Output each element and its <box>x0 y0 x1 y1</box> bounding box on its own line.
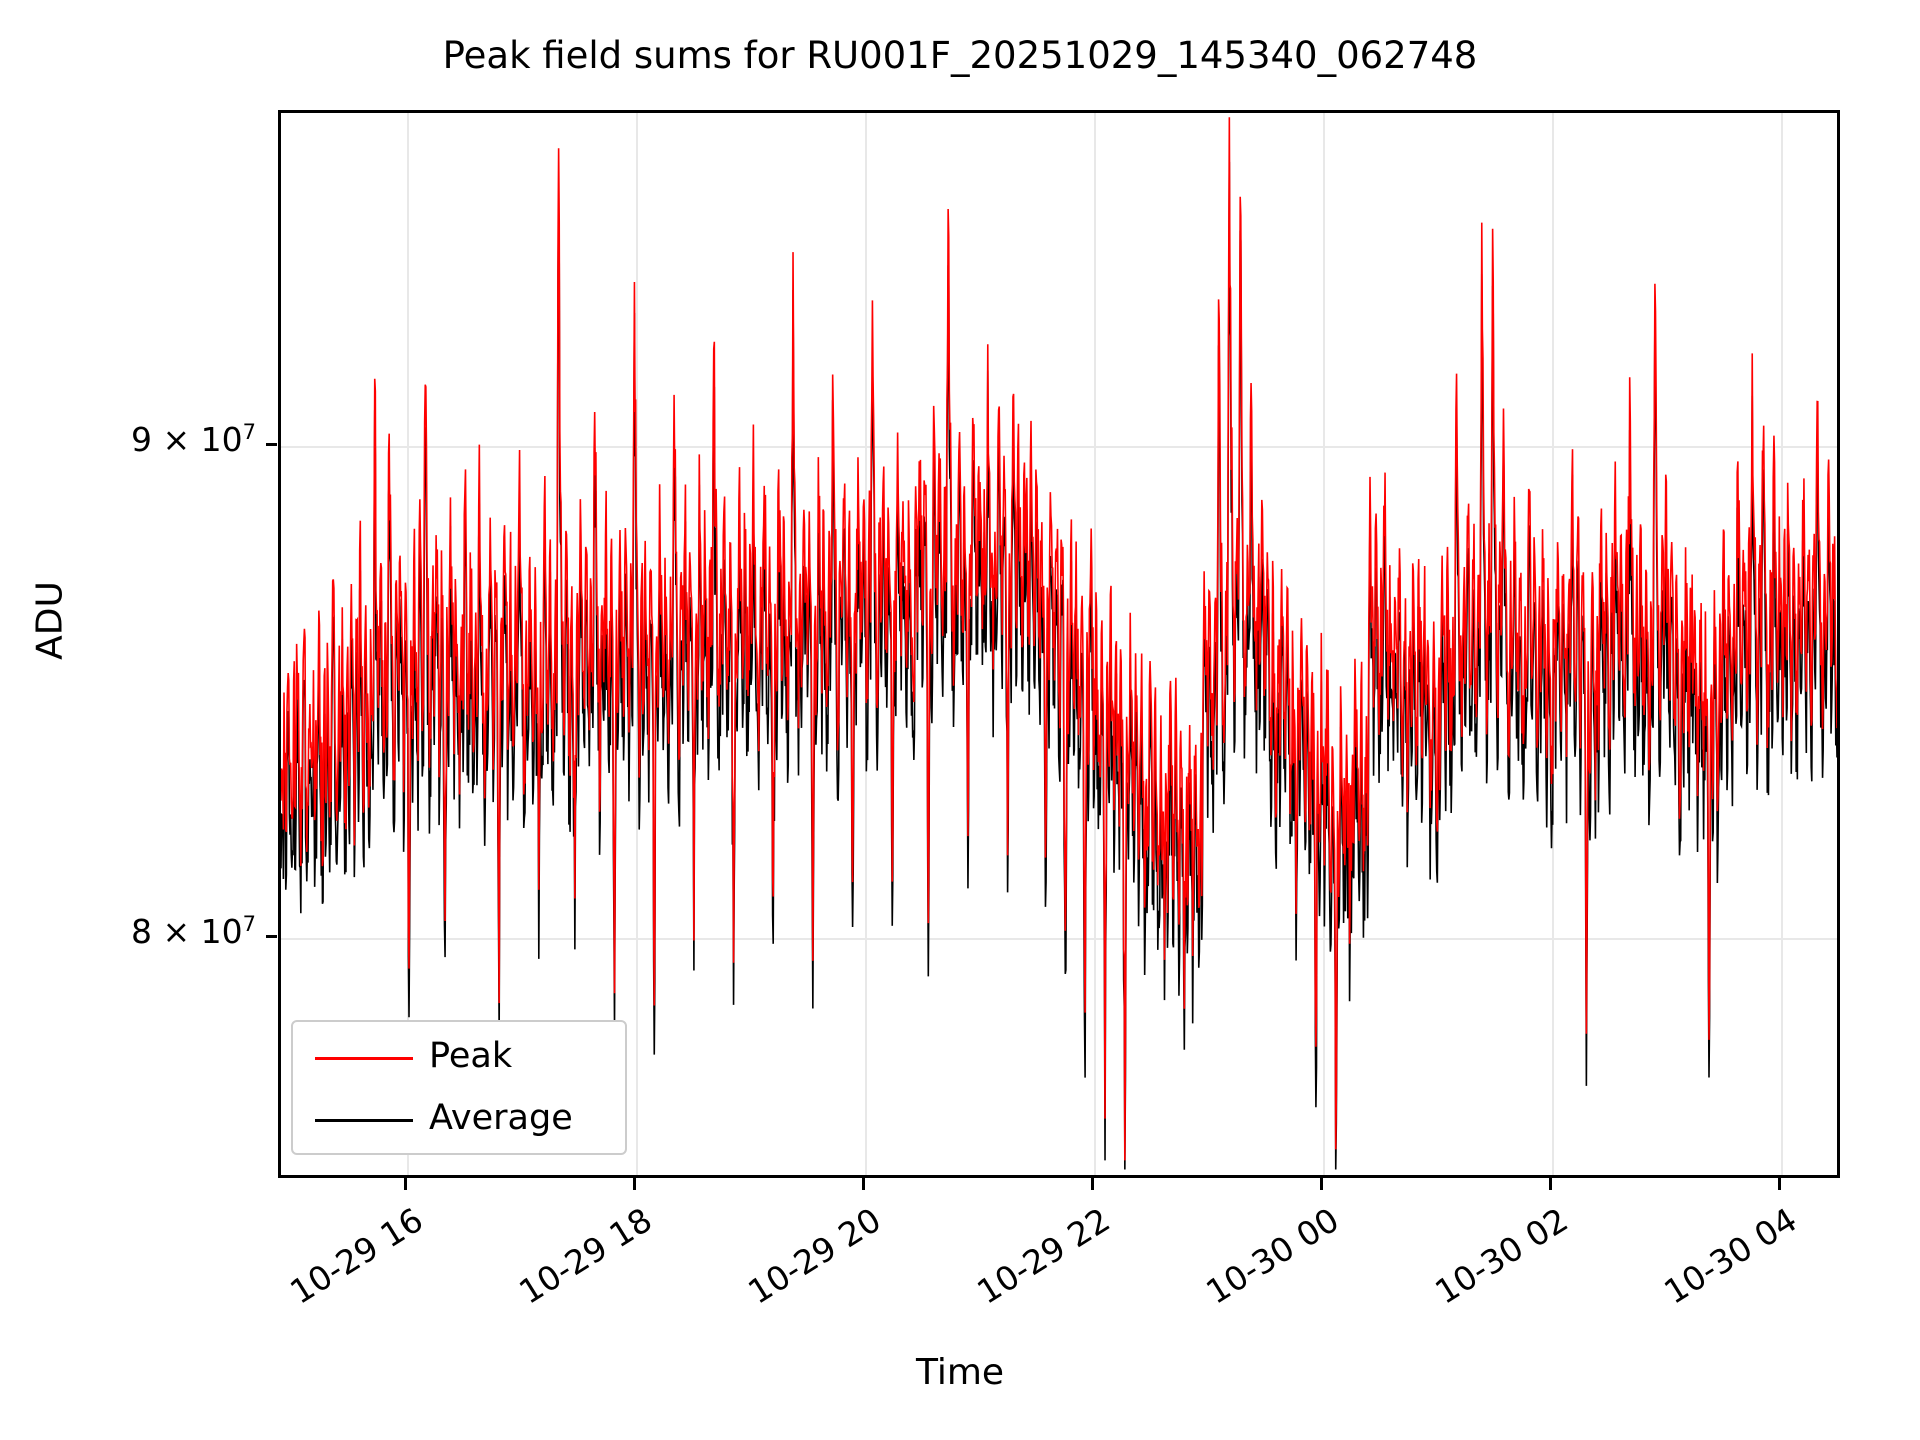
series-lines <box>281 113 1837 1175</box>
x-tick-label: 10-29 22 <box>960 1200 1116 1318</box>
x-tick-mark <box>633 1178 636 1190</box>
x-tick-mark <box>1320 1178 1323 1190</box>
page-title: Peak field sums for RU001F_20251029_1453… <box>0 34 1920 77</box>
legend-label-average: Average <box>429 1098 573 1138</box>
legend-item-peak[interactable]: Peak <box>293 1030 625 1086</box>
y-tick-mark <box>266 935 277 938</box>
y-tick-label: 9 × 107 <box>26 420 256 459</box>
x-tick-label: 10-30 00 <box>1189 1200 1345 1318</box>
x-tick-mark <box>1549 1178 1552 1190</box>
x-tick-label: 10-30 04 <box>1647 1200 1803 1318</box>
x-tick-label: 10-29 18 <box>502 1200 658 1318</box>
legend-swatch-average <box>315 1119 413 1122</box>
x-tick-label: 10-29 20 <box>731 1200 887 1318</box>
legend-swatch-peak <box>315 1057 413 1060</box>
x-tick-mark <box>1778 1178 1781 1190</box>
x-tick-label: 10-30 02 <box>1418 1200 1574 1318</box>
y-tick-mark <box>266 443 277 446</box>
plot-area[interactable] <box>278 110 1840 1178</box>
x-tick-label: 10-29 16 <box>273 1200 429 1318</box>
series-line-peak <box>281 117 1837 1160</box>
legend-label-peak: Peak <box>429 1036 512 1076</box>
legend[interactable]: Peak Average <box>291 1020 627 1155</box>
x-axis-label: Time <box>0 1352 1920 1393</box>
x-tick-mark <box>862 1178 865 1190</box>
x-tick-mark <box>1091 1178 1094 1190</box>
y-axis-label: ADU <box>30 511 71 731</box>
matplotlib-figure: Peak field sums for RU001F_20251029_1453… <box>0 0 1920 1440</box>
legend-item-average[interactable]: Average <box>293 1092 625 1148</box>
x-tick-mark <box>404 1178 407 1190</box>
y-tick-label: 8 × 107 <box>26 912 256 951</box>
